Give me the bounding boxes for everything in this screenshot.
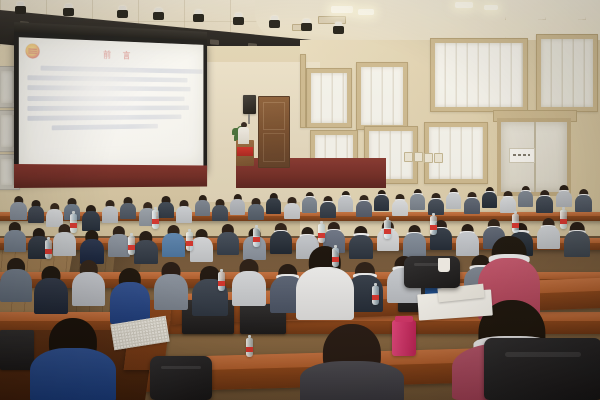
backpack <box>150 356 212 400</box>
attendee-torso <box>374 195 389 211</box>
attendee <box>120 197 136 219</box>
attendee-torso <box>82 211 100 231</box>
attendee-torso <box>464 198 480 214</box>
water-bottle <box>372 286 379 305</box>
podium-banner <box>237 147 253 156</box>
attendee <box>232 259 266 306</box>
wall-outlet <box>434 153 443 163</box>
attendee <box>266 193 281 214</box>
attendee <box>154 262 188 310</box>
attendee-torso <box>0 269 32 302</box>
attendee-torso <box>4 230 26 252</box>
attendee-torso <box>482 192 497 208</box>
stage-spotlight <box>192 10 205 22</box>
attendee-torso <box>34 278 68 314</box>
attendee-torso <box>403 233 426 257</box>
attendee-torso <box>302 197 317 213</box>
room-sign <box>509 148 535 163</box>
attendee <box>374 190 389 211</box>
attendee-torso <box>284 203 300 219</box>
attendee <box>176 200 192 223</box>
attendee <box>102 200 118 223</box>
attendee <box>464 192 480 214</box>
attendee-torso <box>120 203 136 219</box>
attendee <box>217 224 239 255</box>
attendee <box>195 195 210 216</box>
attendee <box>392 194 408 216</box>
attendee-torso <box>518 191 533 207</box>
presenter <box>238 122 249 144</box>
wall-outlet <box>404 152 413 162</box>
chair-back <box>0 330 34 370</box>
attendee-torso <box>176 206 192 223</box>
attendee-torso <box>190 237 213 262</box>
attendee-torso <box>53 232 76 256</box>
stage-spotlight <box>116 6 129 18</box>
attendee-torso <box>102 206 118 223</box>
backpack <box>484 338 600 400</box>
attendee <box>72 260 105 306</box>
attendee-torso <box>536 196 553 213</box>
attendee <box>536 190 553 213</box>
stage-spotlight <box>300 19 313 31</box>
attendee <box>80 230 104 264</box>
slide-body-text <box>27 65 196 166</box>
attendee <box>190 229 213 262</box>
attendee-torso <box>110 282 150 324</box>
attendee-torso <box>428 199 444 215</box>
water-bottle <box>246 338 253 357</box>
attendee <box>356 195 372 217</box>
attendee <box>110 268 150 324</box>
water-bottle <box>218 272 225 291</box>
presentation-slide: 前言 <box>19 37 204 175</box>
water-bottle <box>430 216 437 235</box>
attendee-torso <box>446 193 461 209</box>
backpack <box>404 256 460 288</box>
attendee-torso <box>300 361 404 400</box>
attendee <box>482 187 497 208</box>
water-bottle <box>152 210 159 229</box>
attendee <box>212 199 228 221</box>
attendee <box>410 189 425 210</box>
attendee-torso <box>296 267 354 320</box>
attendee <box>284 197 300 219</box>
water-bottle <box>384 220 391 239</box>
lecture-hall-photo: 前言 <box>0 0 600 400</box>
attendee <box>270 223 292 254</box>
attendee <box>446 188 461 209</box>
recessed-light <box>484 5 498 10</box>
attendee <box>428 193 444 215</box>
stage-spotlight <box>268 16 281 28</box>
attendee-torso <box>10 202 27 220</box>
stage-spotlight <box>14 2 27 14</box>
attendee <box>564 222 590 257</box>
attendee <box>4 222 26 252</box>
attendee-torso <box>232 271 266 306</box>
recessed-light <box>455 2 473 8</box>
attendee <box>338 191 353 212</box>
attendee-torso <box>72 272 105 306</box>
attendee <box>0 258 32 302</box>
projection-screen: 前言 <box>14 26 207 178</box>
attendee <box>34 266 68 314</box>
attendee <box>500 191 516 213</box>
slide-title: 前言 <box>19 45 204 63</box>
attendee <box>518 186 533 207</box>
attendee-torso <box>320 202 336 218</box>
attendee-torso <box>410 194 425 210</box>
attendee <box>30 318 116 400</box>
water-bottle <box>332 248 339 267</box>
attendee <box>230 194 245 215</box>
stage-wooden-door[interactable] <box>258 96 290 168</box>
attendee <box>108 226 130 257</box>
acoustic-panel <box>536 34 598 112</box>
attendee-torso <box>217 232 239 255</box>
water-bottle <box>253 228 260 247</box>
attendee-torso <box>28 206 44 223</box>
stage-wainscot-left <box>14 164 207 188</box>
attendee <box>300 324 404 400</box>
attendee <box>134 231 158 264</box>
attendee <box>10 196 27 220</box>
wall-outlet <box>424 153 433 163</box>
attendee-torso <box>270 231 292 254</box>
attendee <box>403 225 426 257</box>
attendee-torso <box>212 205 228 221</box>
attendee-torso <box>154 274 188 310</box>
water-bottle <box>318 224 325 243</box>
attendee <box>556 185 572 207</box>
attendee-torso <box>392 200 408 216</box>
water-bottle <box>560 210 567 229</box>
water-bottle <box>45 240 52 259</box>
paper-cup <box>438 258 450 272</box>
attendee <box>162 225 185 257</box>
acoustic-panel <box>430 38 528 112</box>
water-bottle <box>512 214 519 233</box>
attendee <box>537 218 560 249</box>
attendee <box>28 200 44 223</box>
attendee <box>248 198 264 220</box>
attendee-torso <box>266 198 281 214</box>
stage-spotlight <box>152 8 165 20</box>
attendee-torso <box>162 233 185 257</box>
attendee <box>82 205 100 231</box>
attendee-torso <box>564 231 590 257</box>
attendee <box>320 196 336 218</box>
acoustic-panel <box>306 68 352 128</box>
attendee <box>575 189 592 212</box>
attendee <box>456 224 479 256</box>
wall-mounted-loudspeaker <box>243 95 256 114</box>
attendee-torso <box>108 234 130 257</box>
attendee-torso <box>537 226 560 249</box>
screen-frame: 前言 <box>14 32 207 180</box>
pink-thermos <box>392 320 416 356</box>
attendee-torso <box>575 195 592 212</box>
attendee-torso <box>230 199 245 215</box>
wall-outlet <box>414 152 423 162</box>
stage-spotlight <box>62 4 75 16</box>
attendee <box>302 192 317 213</box>
attendee-torso <box>195 200 210 216</box>
attendee-torso <box>30 348 116 400</box>
attendee-torso <box>134 240 158 265</box>
water-bottle <box>70 214 77 233</box>
attendee-torso <box>158 202 174 218</box>
acoustic-panel <box>356 62 408 130</box>
water-bottle <box>128 236 135 255</box>
stage-spotlight <box>232 13 245 25</box>
attendee-torso <box>356 201 372 217</box>
attendee-torso <box>248 204 264 220</box>
recessed-light <box>331 6 353 13</box>
attendee <box>158 196 174 218</box>
attendee-torso <box>456 232 479 256</box>
stage-spotlight <box>332 22 345 34</box>
recessed-light <box>358 9 374 15</box>
wall-pilaster <box>300 54 306 128</box>
attendee <box>296 246 354 320</box>
attendee-torso <box>338 196 353 212</box>
water-bottle <box>186 232 193 251</box>
attendee-torso <box>556 191 572 207</box>
